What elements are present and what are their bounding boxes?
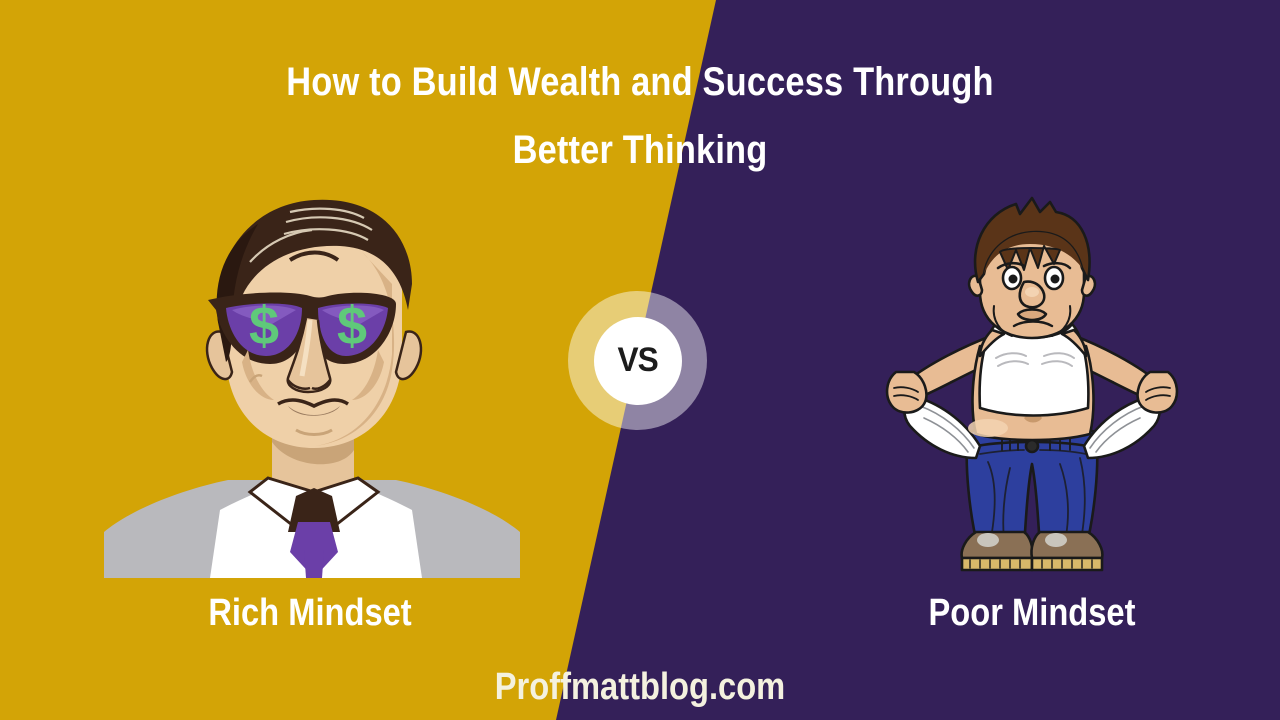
- rich-businessman-illustration: $ $: [100, 192, 524, 578]
- poor-pupil-left: [1009, 275, 1018, 284]
- page-title-line-2: Better Thinking: [90, 116, 1191, 184]
- right-side-label: Poor Mindset: [877, 592, 1187, 635]
- versus-badge: VS: [568, 291, 707, 430]
- poster-canvas: How to Build Wealth and Success Through …: [0, 0, 1280, 720]
- poor-nose-highlight: [1025, 287, 1039, 297]
- left-side-label: Rich Mindset: [155, 592, 465, 635]
- poor-shoe-left: [962, 532, 1033, 558]
- poor-man-illustration: [884, 196, 1180, 580]
- poor-mouth: [1018, 310, 1046, 321]
- dollar-sign-icon-left: $: [249, 296, 279, 356]
- poor-shoe-highlight-left: [977, 533, 999, 547]
- page-title: How to Build Wealth and Success Through …: [90, 48, 1191, 184]
- poor-hand-right: [1138, 372, 1177, 413]
- rich-tie-lower: [304, 550, 324, 578]
- versus-label: VS: [617, 341, 657, 380]
- poor-belly-highlight: [968, 419, 1008, 437]
- poor-pupil-right: [1051, 275, 1060, 284]
- site-url-footer: Proffmattblog.com: [90, 666, 1191, 709]
- poor-jeans-button: [1026, 440, 1038, 452]
- poor-shoe-right: [1031, 532, 1102, 558]
- page-title-line-1: How to Build Wealth and Success Through: [286, 60, 993, 104]
- poor-shoe-highlight-right: [1045, 533, 1067, 547]
- dollar-sign-icon-right: $: [337, 296, 367, 356]
- poor-shoe-sole-left: [962, 558, 1032, 570]
- versus-badge-inner: VS: [594, 317, 682, 405]
- poor-hand-left: [887, 372, 926, 413]
